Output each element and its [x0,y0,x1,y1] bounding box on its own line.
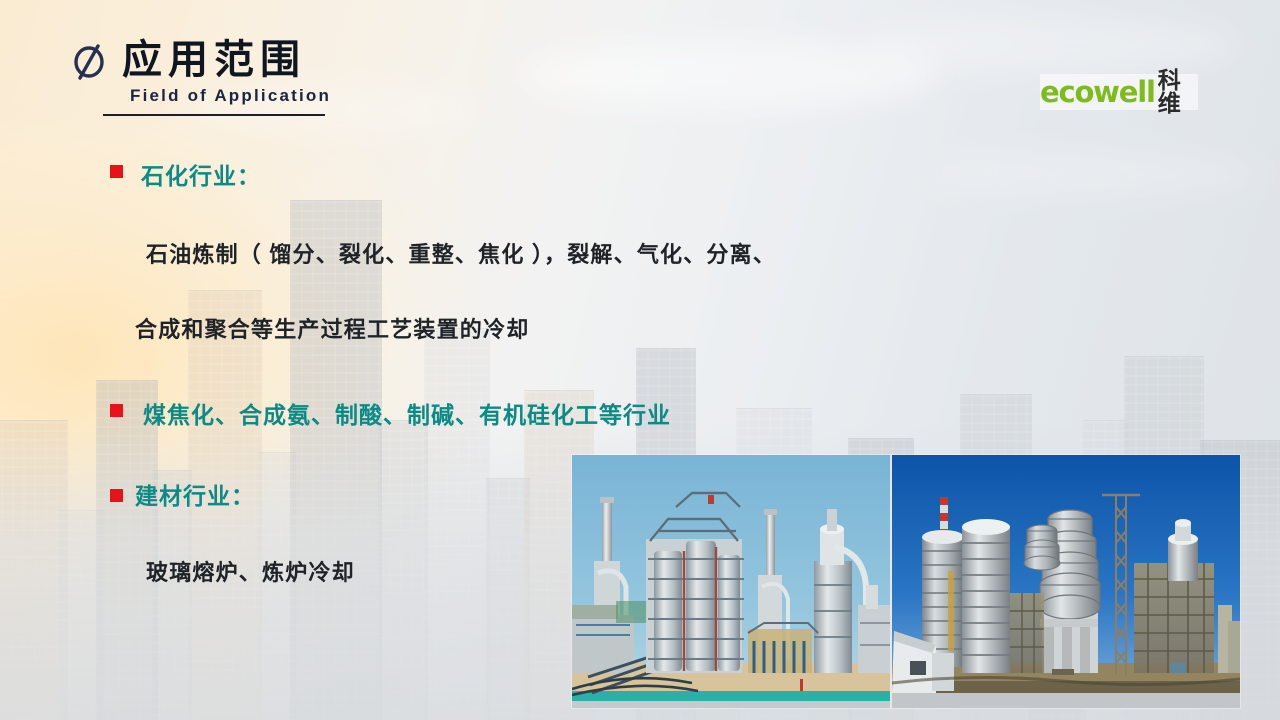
page-title: 应用范围 [122,30,306,90]
title-divider [103,114,325,116]
bullet-marker [110,404,123,417]
list-item-heading-building-materials: 建材行业： [135,477,255,511]
logo-wordmark: ecowell [1040,78,1155,107]
slide-canvas: 应用范围 Field of Application ecowell 科维 石化行… [0,0,1280,720]
refinery-photo [572,455,890,708]
logo-cn-mark: 科维 [1158,69,1198,115]
list-item-line-petrochemical-1: 石油炼制（ 馏分、裂化、重整、焦化 ），裂解、气化、分离、 [146,237,776,269]
brand-logo: ecowell 科维 [1040,74,1198,110]
diameter-phi-icon [68,38,112,82]
page-subtitle: Field of Application [130,86,331,106]
list-item-line-building-materials-1: 玻璃熔炉、炼炉冷却 [146,555,355,587]
bullet-marker [110,489,123,502]
bullet-marker [110,165,123,178]
list-item-line-petrochemical-2: 合成和聚合等生产过程工艺装置的冷却 [135,312,529,344]
list-item-heading-petrochemical: 石化行业： [141,157,261,191]
page-title-block: 应用范围 [68,32,488,94]
cement-plant-photo [892,455,1240,708]
list-item-heading-coking: 煤焦化、合成氨、制酸、制碱、有机硅化工等行业 [143,396,671,430]
